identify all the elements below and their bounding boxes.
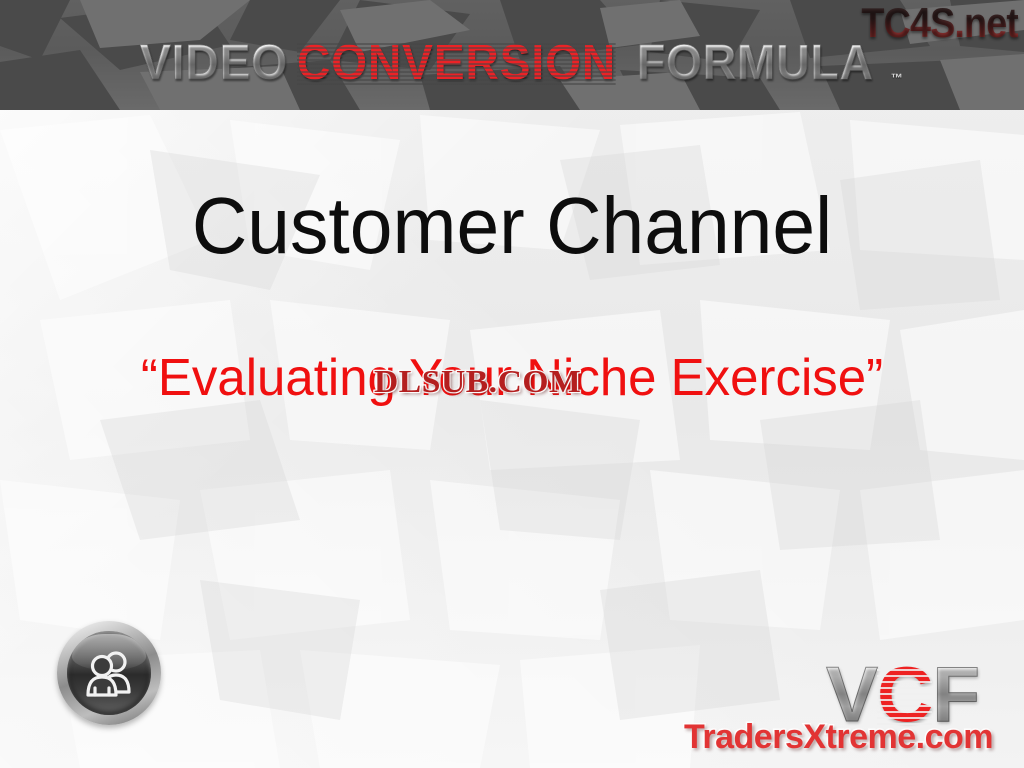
logo-word-conversion: CONVERSION xyxy=(297,39,616,88)
people-icon xyxy=(80,648,138,698)
page-title: Customer Channel xyxy=(20,186,1003,266)
logo-word-formula: FORMULA xyxy=(637,39,874,88)
header-band: VIDEO CONVERSION FORMULA ™ TC4S.net xyxy=(0,0,1024,110)
trademark-icon: ™ xyxy=(891,71,903,85)
logo-word-video: VIDEO xyxy=(140,39,288,88)
tradersxtreme-wordmark: TradersXtreme.com xyxy=(684,718,993,757)
video-conversion-formula-logo: VIDEO CONVERSION FORMULA ™ xyxy=(140,30,903,88)
presentation-slide: VIDEO CONVERSION FORMULA ™ TC4S.net Cust… xyxy=(0,0,1024,768)
dlsub-watermark: DLSUB.COM xyxy=(374,363,581,400)
people-badge xyxy=(57,621,161,725)
tc4s-corner-mark: TC4S.net xyxy=(861,2,1018,44)
people-badge-inner xyxy=(67,631,151,715)
